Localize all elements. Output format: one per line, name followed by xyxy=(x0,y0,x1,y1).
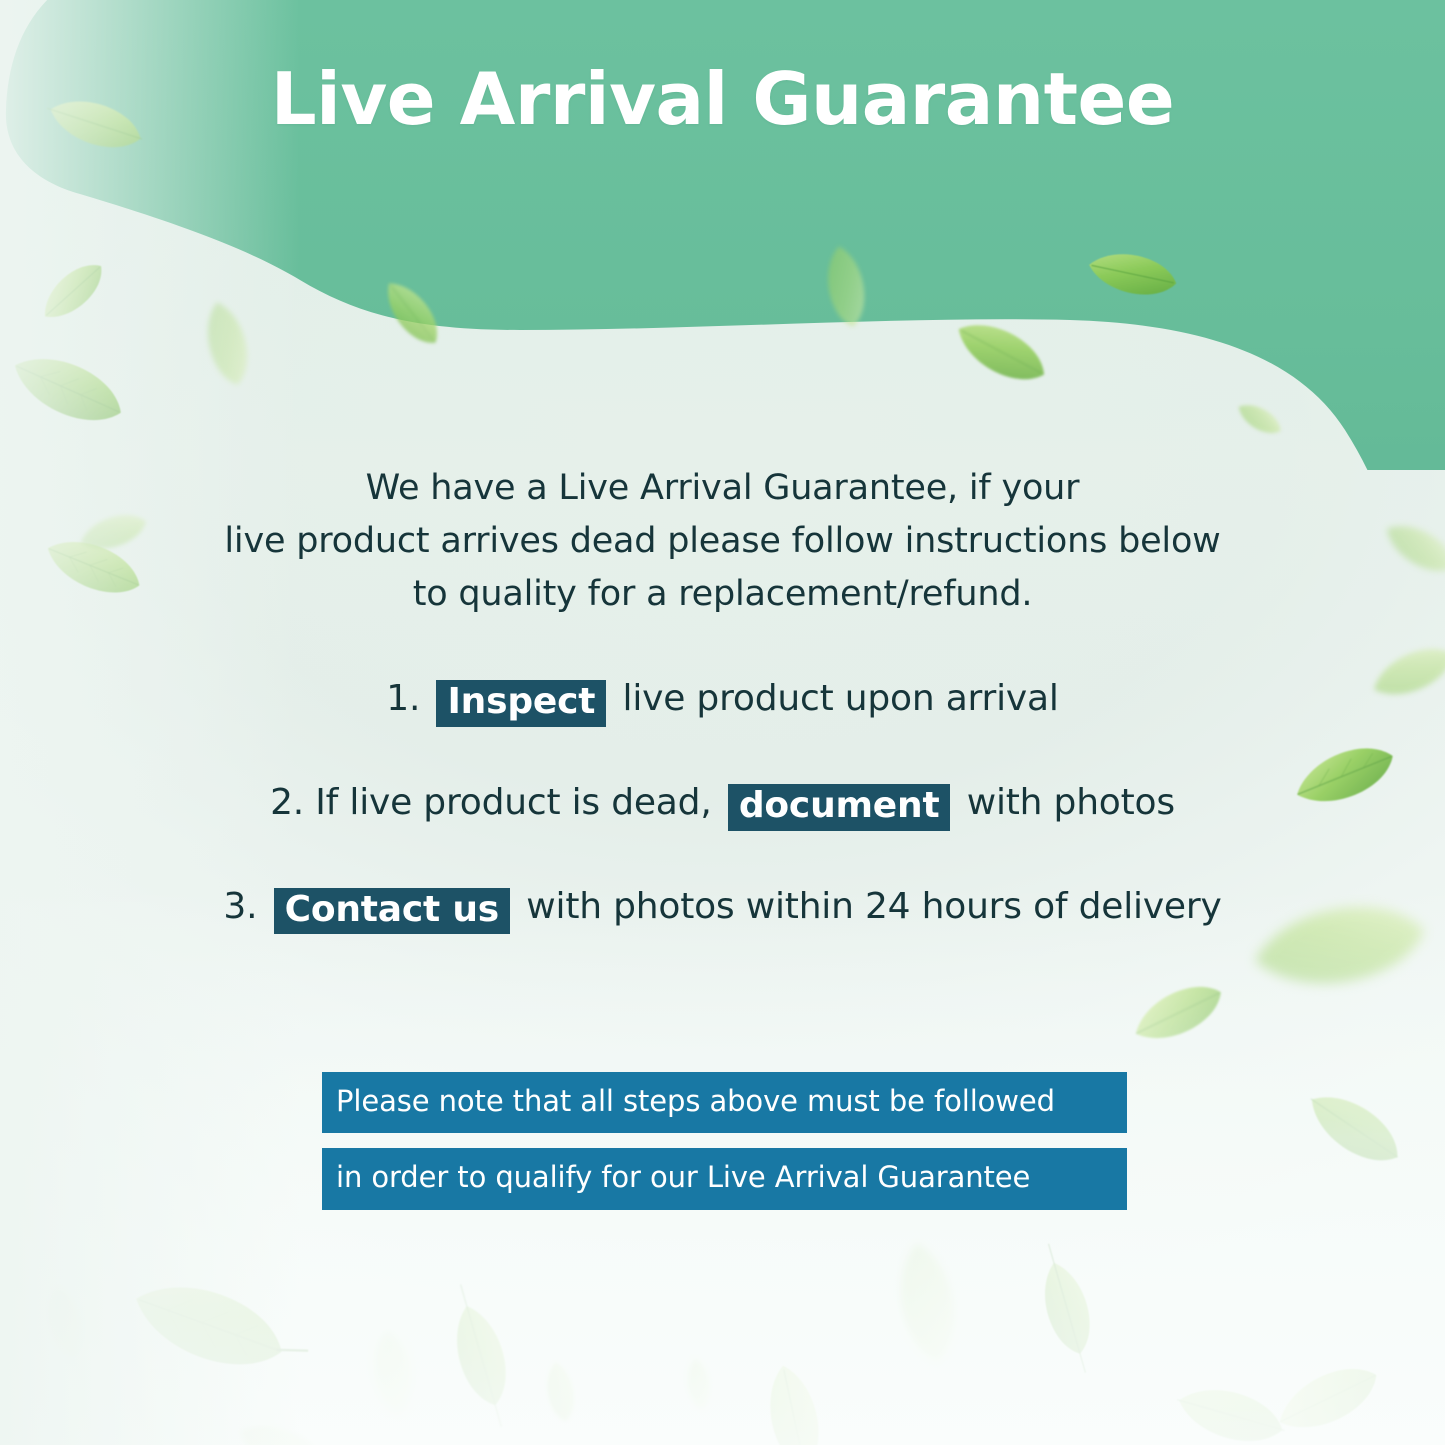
step-item-3: 3. Contact us with photos within 24 hour… xyxy=(0,884,1445,932)
step-number: 2. xyxy=(270,782,304,823)
intro-line-1: We have a Live Arrival Guarantee, if you… xyxy=(0,462,1445,515)
step-text-after: with photos xyxy=(967,782,1175,823)
footer-note: Please note that all steps above must be… xyxy=(322,1072,1127,1210)
live-arrival-guarantee-graphic: Live Arrival Guarantee xyxy=(0,0,1445,1445)
note-bar-line-1: Please note that all steps above must be… xyxy=(322,1072,1127,1133)
step-item-1: 1. Inspect live product upon arrival xyxy=(0,676,1445,724)
step-highlight-contact-us: Contact us xyxy=(274,888,510,935)
step-number: 3. xyxy=(223,886,257,927)
steps-list: 1. Inspect live product upon arrival 2. … xyxy=(0,676,1445,987)
content-area: We have a Live Arrival Guarantee, if you… xyxy=(0,0,1445,1445)
intro-line-3: to quality for a replacement/refund. xyxy=(0,568,1445,621)
step-number: 1. xyxy=(386,678,420,719)
note-bar-spacer xyxy=(322,1133,1127,1148)
step-highlight-document: document xyxy=(728,784,951,831)
step-text-after: with photos within 24 hours of delivery xyxy=(526,886,1221,927)
step-item-2: 2. If live product is dead, document wit… xyxy=(0,780,1445,828)
intro-paragraph: We have a Live Arrival Guarantee, if you… xyxy=(0,462,1445,622)
intro-line-2: live product arrives dead please follow … xyxy=(0,515,1445,568)
step-text-before: If live product is dead, xyxy=(315,782,711,823)
step-highlight-inspect: Inspect xyxy=(436,680,606,727)
step-text-after: live product upon arrival xyxy=(623,678,1059,719)
note-bar-line-2: in order to qualify for our Live Arrival… xyxy=(322,1148,1127,1209)
